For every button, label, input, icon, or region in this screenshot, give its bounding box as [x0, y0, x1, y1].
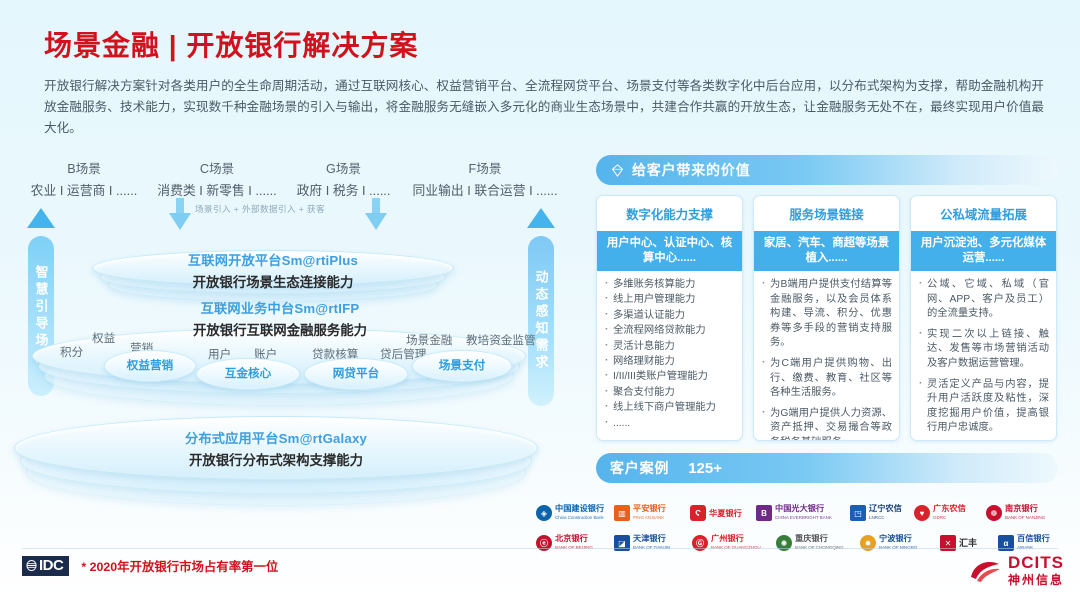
arrow-up-right-icon — [527, 208, 555, 228]
list-item: 为B端用户提供支付结算等金融服务，以及会员体系构建、导流、积分、优惠券等多手段的… — [762, 278, 892, 351]
layer2-product: 互联网业务中台Sm@rtIFP — [100, 298, 460, 317]
nanjing-mark-icon: ❁ — [986, 505, 1002, 521]
solution-architecture-diagram: B场景 农业 I 运营商 I ...... C场景 消费类 I 新零售 I ..… — [0, 150, 580, 520]
card1-subtitle: 用户中心、认证中心、核算中心...... — [597, 231, 742, 271]
logo-name: 南京银行 — [1005, 504, 1038, 513]
logo-beijing: ⓔ 北京银行BANK OF BEIJING — [536, 534, 610, 552]
module1-title: 权益营销 — [127, 357, 173, 373]
layer1-capability: 开放银行场景生态连接能力 — [92, 271, 454, 291]
list-item: 多渠道认证能力 — [605, 309, 735, 323]
list-item: ...... — [605, 417, 735, 431]
module4-keyword-1: 教培资金监管 — [466, 332, 536, 348]
page-title: 场景金融 | 开放银行解决方案 — [44, 24, 418, 64]
logo-name: 重庆银行 — [795, 534, 828, 543]
value-cards: 数字化能力支撑 用户中心、认证中心、核算中心...... 多维账务核算能力 线上… — [596, 195, 1058, 441]
list-item: 灵活定义产品与内容，提升用户活跃度及粘性，深度挖掘用户价值，提高银行用户忠诚度。 — [919, 378, 1049, 436]
intro-paragraph: 开放银行解决方案针对各类用户的全生命周期活动，通过互联网核心、权益营销平台、全流… — [44, 76, 1044, 139]
module1-keyword-1: 权益 — [92, 330, 115, 346]
logo-gdrc: ♥ 广东农信GDRC — [914, 504, 982, 522]
logo-name: 汇丰 — [959, 538, 977, 548]
arrow-down-2-icon — [365, 213, 387, 230]
logo-huaxia: Ϛ 华夏银行 — [690, 505, 752, 521]
card2-list: 为B端用户提供支付结算等金融服务，以及会员体系构建、导流、积分、优惠券等多手段的… — [754, 271, 899, 441]
logo-ccb: ◈ 中国建设银行China Construction Bank — [536, 504, 610, 522]
logo-name-en: BANK OF NANJING — [1005, 513, 1045, 522]
arrow-down-stem-1 — [176, 198, 184, 214]
card1-list: 多维账务核算能力 线上用户管理能力 多渠道认证能力 全流程网络贷款能力 灵活计息… — [597, 271, 742, 431]
scenario-g-name: G场景 — [281, 158, 406, 177]
module-pill-rights-marketing[interactable]: 权益营销 — [104, 350, 196, 382]
scenario-b-name: B场景 — [14, 158, 154, 177]
list-item: I/II/III类账户管理能力 — [605, 370, 735, 384]
logo-name: 中国光大银行 — [775, 504, 824, 513]
value-panel-header-text: 给客户带来的价值 — [632, 160, 750, 180]
brand-name-cn: 神州信息 — [1008, 571, 1064, 588]
value-card-digital-capability[interactable]: 数字化能力支撑 用户中心、认证中心、核算中心...... 多维账务核算能力 线上… — [596, 195, 743, 441]
value-card-service-scenario[interactable]: 服务场景链接 家居、汽车、商超等场景植入...... 为B端用户提供支付结算等金… — [753, 195, 900, 441]
scenario-g: G场景 政府 I 税务 I ...... — [281, 158, 406, 199]
scenario-c: C场景 消费类 I 新零售 I ...... — [142, 158, 292, 199]
scenario-b: B场景 农业 I 运营商 I ...... — [14, 158, 154, 199]
list-item: 网络理财能力 — [605, 355, 735, 369]
card3-title: 公私域流量拓展 — [911, 196, 1056, 231]
globe-icon — [26, 559, 37, 572]
flow-description: 场景引入 + 外部数据引入 + 获客 — [0, 203, 520, 215]
list-item: 多维账务核算能力 — [605, 278, 735, 292]
arrow-down-stem-2 — [372, 198, 380, 214]
logo-name: 百信银行 — [1017, 534, 1050, 543]
ccb-mark-icon: ◈ — [536, 505, 552, 521]
scenario-f-items: 同业输出 I 联合运营 I ...... — [400, 180, 570, 199]
logo-name: 平安银行 — [633, 504, 666, 513]
layer3-capability: 开放银行分布式架构支撑能力 — [14, 449, 538, 469]
scenario-g-items: 政府 I 税务 I ...... — [281, 180, 406, 199]
cases-header: 客户案例 125+ — [596, 453, 1058, 483]
module1-keyword-0: 积分 — [60, 344, 83, 360]
card2-subtitle: 家居、汽车、商超等场景植入...... — [754, 231, 899, 271]
logo-name-en: CHINA EVERBRIGHT BANK — [775, 513, 832, 522]
logo-name: 广州银行 — [711, 534, 744, 543]
scenario-c-items: 消费类 I 新零售 I ...... — [142, 180, 292, 199]
dcits-brand-logo: DCITS 神州信息 — [968, 554, 1064, 588]
scenario-b-items: 农业 I 运营商 I ...... — [14, 180, 154, 199]
arrow-up-left-icon — [27, 208, 55, 228]
idc-logo-icon: IDC — [22, 556, 69, 576]
everbright-mark-icon: B — [756, 505, 772, 521]
card1-title: 数字化能力支撑 — [597, 196, 742, 231]
footer: IDC * 2020年开放银行市场占有率第一位 — [22, 556, 278, 576]
value-panel: 给客户带来的价值 数字化能力支撑 用户中心、认证中心、核算中心...... 多维… — [596, 155, 1058, 483]
list-item: 公域、它域、私域（官网、APP、客户及员工）的全流量支持。 — [919, 278, 1049, 322]
layer3-label: 分布式应用平台Sm@rtGalaxy 开放银行分布式架构支撑能力 — [14, 428, 538, 469]
logo-name: 天津银行 — [633, 534, 666, 543]
card2-title: 服务场景链接 — [754, 196, 899, 231]
list-item: 线上线下商户管理能力 — [605, 401, 735, 415]
scenario-c-name: C场景 — [142, 158, 292, 177]
logo-name-en: LNRCC — [869, 513, 902, 522]
gdrc-mark-icon: ♥ — [914, 505, 930, 521]
layer1-product: 互联网开放平台Sm@rtiPlus — [92, 250, 454, 269]
value-card-traffic-expansion[interactable]: 公私域流量拓展 用户沉淀池、多元化媒体运营...... 公域、它域、私域（官网、… — [910, 195, 1057, 441]
list-item: 线上用户管理能力 — [605, 293, 735, 307]
list-item: 聚合支付能力 — [605, 386, 735, 400]
diamond-icon — [610, 163, 625, 178]
lnrcc-mark-icon: ◳ — [850, 505, 866, 521]
right-vertical-label-text: 动态感知需求 — [532, 270, 551, 372]
list-item: 为C端用户提供购物、出行、缴费、教育、社区等各种生活服务。 — [762, 357, 892, 401]
list-item: 为G端用户提供人力资源、资产抵押、交易撮合等政务税务基础服务。 — [762, 407, 892, 441]
right-vertical-label: 动态感知需求 — [528, 236, 554, 406]
module4-title: 场景支付 — [439, 357, 485, 373]
module-pill-online-lending[interactable]: 网贷平台 — [304, 358, 408, 390]
logo-nanjing: ❁ 南京银行BANK OF NANJING — [986, 504, 1060, 522]
cases-header-text: 客户案例 — [610, 458, 669, 478]
scenario-f: F场景 同业输出 I 联合运营 I ...... — [400, 158, 570, 199]
logo-aibank: α 百信银行AIBANK — [998, 534, 1062, 552]
huaxia-mark-icon: Ϛ — [690, 505, 706, 521]
footer-divider — [22, 548, 1058, 549]
module2-title: 互金核心 — [225, 365, 271, 381]
logo-name: 广东农信 — [933, 504, 966, 513]
module-pill-internet-finance-core[interactable]: 互金核心 — [196, 358, 300, 390]
brand-name-en: DCITS — [1008, 554, 1064, 571]
logo-row-1: ◈ 中国建设银行China Construction Bank ▥ 平安银行PI… — [536, 498, 1066, 528]
footer-note: * 2020年开放银行市场占有率第一位 — [81, 557, 278, 575]
card3-list: 公域、它域、私域（官网、APP、客户及员工）的全流量支持。 实现二次以上链接、触… — [911, 271, 1056, 436]
scenario-f-name: F场景 — [400, 158, 570, 177]
logo-name: 中国建设银行 — [555, 504, 604, 513]
cases-count: 125+ — [688, 460, 722, 477]
logo-name: 北京银行 — [555, 534, 588, 543]
value-panel-header: 给客户带来的价值 — [596, 155, 1058, 185]
logo-lnrcc: ◳ 辽宁农信LNRCC — [850, 504, 910, 522]
idc-logo-text: IDC — [39, 557, 63, 574]
module-pill-scenario-payment[interactable]: 场景支付 — [412, 350, 512, 382]
layer3-product: 分布式应用平台Sm@rtGalaxy — [14, 428, 538, 447]
logo-name: 辽宁农信 — [869, 504, 902, 513]
logo-pingan: ▥ 平安银行PING AN BANK — [614, 504, 686, 522]
card3-subtitle: 用户沉淀池、多元化媒体运营...... — [911, 231, 1056, 271]
logo-name: 华夏银行 — [709, 509, 742, 518]
logo-name-en: PING AN BANK — [633, 513, 666, 522]
arrow-down-1-icon — [169, 213, 191, 230]
logo-chongqing: ✺ 重庆银行BANK OF CHONGQING — [776, 534, 856, 552]
layer1-label: 互联网开放平台Sm@rtiPlus 开放银行场景生态连接能力 — [92, 250, 454, 291]
logo-everbright: B 中国光大银行CHINA EVERBRIGHT BANK — [756, 504, 846, 522]
module4-keyword-0: 场景金融 — [406, 332, 452, 348]
logo-guangzhou: Ⓖ 广州银行BANK OF GUANGZHOU — [692, 534, 772, 552]
logo-name-en: GDRC — [933, 513, 966, 522]
logo-ningbo: ✹ 宁波银行BANK OF NINGBO — [860, 534, 936, 552]
list-item: 灵活计息能力 — [605, 340, 735, 354]
swirl-logo-icon — [968, 557, 1002, 585]
customer-logos: ◈ 中国建设银行China Construction Bank ▥ 平安银行PI… — [536, 498, 1066, 558]
logo-tianjin: ◪ 天津银行BANK OF TIANJIN — [614, 534, 688, 552]
list-item: 全流程网络贷款能力 — [605, 324, 735, 338]
logo-name: 宁波银行 — [879, 534, 912, 543]
logo-name-en: China Construction Bank — [555, 513, 604, 522]
module3-title: 网贷平台 — [333, 365, 379, 381]
list-item: 实现二次以上链接、触达、发售等市场营销活动及客户数据运营管理。 — [919, 328, 1049, 372]
scenario-row: B场景 农业 I 运营商 I ...... C场景 消费类 I 新零售 I ..… — [0, 158, 580, 200]
pingan-mark-icon: ▥ — [614, 505, 630, 521]
